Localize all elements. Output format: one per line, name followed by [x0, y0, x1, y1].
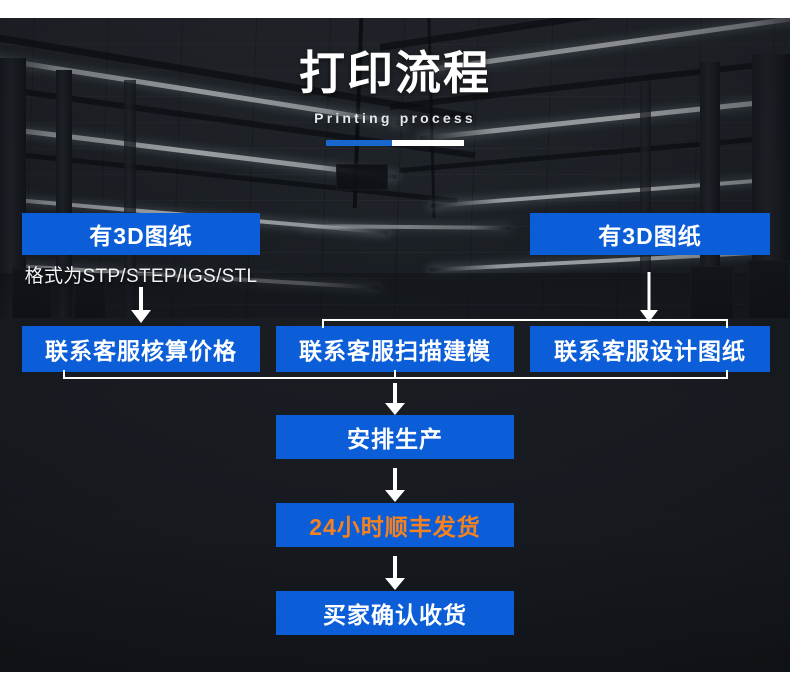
arrow-head: [385, 578, 405, 590]
flow-node-confirm[interactable]: 买家确认收货: [276, 591, 514, 635]
arrow-shaft: [393, 383, 397, 404]
arrow-head: [385, 403, 405, 415]
connector-top-horizontal: [322, 319, 728, 321]
flow-node-have-3d-right[interactable]: 有3D图纸: [530, 213, 770, 255]
flow-node-quote[interactable]: 联系客服核算价格: [22, 326, 260, 372]
top-white-band: [0, 0, 790, 18]
connector-bottom-center-riser: [394, 370, 396, 379]
arrow-shaft: [393, 468, 397, 491]
arrow-head: [385, 490, 405, 502]
flow-node-have-3d-left[interactable]: 有3D图纸: [22, 213, 260, 255]
arrow-shaft: [139, 287, 143, 311]
connector-bottom-left-riser: [63, 370, 65, 379]
bottom-white-band: [0, 672, 790, 696]
arrow-shaft: [393, 556, 397, 579]
connector-top-right-drop: [726, 319, 728, 328]
flow-node-shipping[interactable]: 24小时顺丰发货: [276, 503, 514, 547]
arrow-right-to-design: [636, 272, 662, 322]
flow-node-production[interactable]: 安排生产: [276, 415, 514, 459]
caption-format-note: 格式为STP/STEP/IGS/STL: [22, 261, 260, 288]
process-flow-diagram: 有3D图纸 有3D图纸 格式为STP/STEP/IGS/STL 联系客服核算价格…: [0, 0, 790, 696]
connector-bottom-right-riser: [726, 370, 728, 379]
flow-node-design-drawing[interactable]: 联系客服设计图纸: [530, 326, 770, 372]
connector-top-left-drop: [322, 319, 324, 328]
arrow-production-to-shipping: [380, 468, 410, 502]
flowchart-poster: 打印流程 Printing process 有3D图纸 有3D图纸 格式为STP…: [0, 0, 790, 696]
arrow-left-to-quote: [126, 287, 156, 323]
arrow-head: [131, 310, 151, 323]
arrow-shaft: [648, 272, 651, 310]
arrow-shipping-to-confirm: [380, 556, 410, 590]
flow-node-scan-model[interactable]: 联系客服扫描建模: [276, 326, 514, 372]
arrow-merge-to-production: [380, 383, 410, 415]
